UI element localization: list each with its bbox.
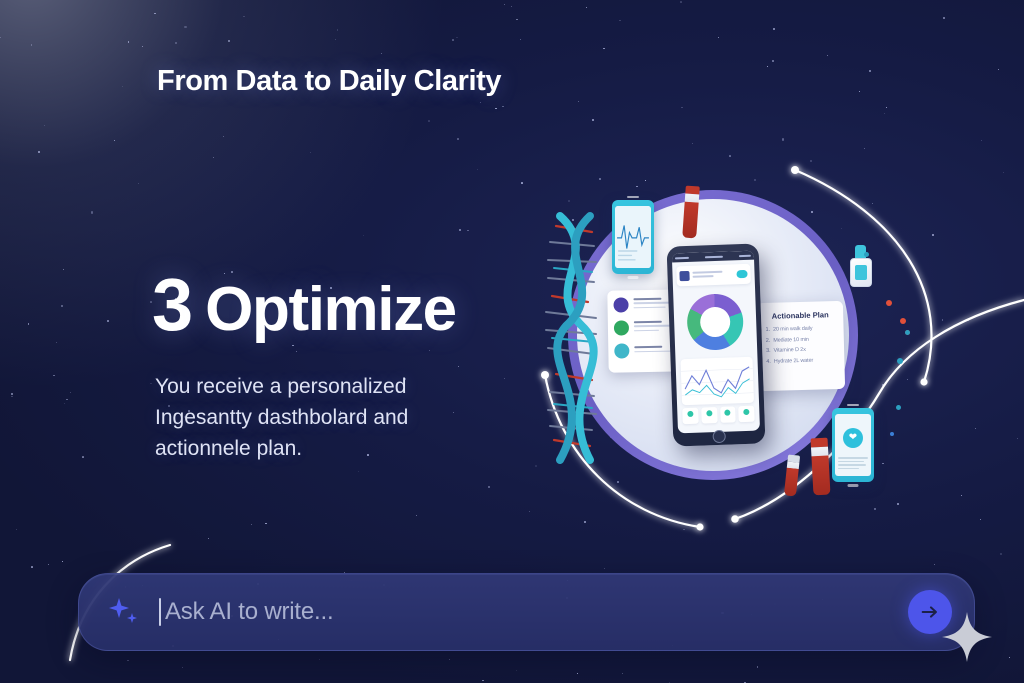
star-dot	[998, 69, 999, 70]
star-dot	[604, 568, 605, 569]
shield-icon	[613, 297, 628, 312]
star-dot	[692, 143, 693, 144]
star-dot	[16, 529, 17, 530]
star-dot	[504, 4, 505, 5]
plan-item: 2. Mediate 10 min	[766, 336, 836, 344]
leaf-icon	[614, 320, 629, 335]
star-dot	[458, 366, 459, 367]
star-dot	[482, 680, 484, 682]
star-dot	[138, 183, 139, 184]
star-dot	[142, 46, 143, 47]
phone-status-bar	[672, 251, 754, 263]
stat-chip	[701, 407, 717, 424]
prompt-input[interactable]	[165, 598, 908, 626]
star-dot	[63, 269, 64, 270]
star-dot	[459, 229, 461, 231]
accent-dot	[864, 252, 869, 257]
step-number: 3	[152, 268, 191, 342]
accent-dot	[886, 300, 892, 306]
star-dot	[251, 524, 252, 525]
accent-dot	[896, 405, 901, 410]
star-dot	[943, 17, 944, 18]
star-dot	[428, 120, 430, 122]
star-dot	[182, 667, 183, 668]
star-dot	[335, 39, 336, 40]
sparkle-decoration-icon	[938, 608, 996, 666]
star-dot	[243, 16, 245, 18]
star-dot	[718, 37, 719, 38]
heart-phone-icon: ❤	[832, 408, 874, 482]
inhaler-icon	[850, 245, 872, 287]
star-dot	[175, 42, 177, 44]
hero-stage: From Data to Daily Clarity 3 Optimize Yo…	[0, 0, 1024, 683]
star-dot	[1003, 172, 1004, 173]
report-icon	[679, 271, 689, 281]
sparkle-icon	[107, 597, 141, 627]
star-dot	[767, 66, 768, 67]
star-dot	[622, 673, 623, 674]
star-dot	[981, 140, 982, 141]
dna-helix-icon	[530, 208, 620, 468]
star-dot	[91, 211, 93, 213]
star-dot	[31, 44, 32, 45]
star-dot	[1000, 553, 1002, 555]
star-dot	[53, 375, 55, 377]
accent-dot	[905, 330, 910, 335]
star-dot	[61, 305, 63, 307]
star-dot	[980, 519, 981, 520]
star-dot	[961, 495, 962, 496]
donut-chart	[673, 287, 757, 358]
star-dot	[64, 403, 65, 404]
star-dot	[265, 523, 266, 524]
accent-dot	[890, 432, 894, 436]
star-dot	[467, 230, 468, 231]
star-dot	[1017, 438, 1018, 439]
star-dot	[127, 660, 129, 662]
star-dot	[869, 70, 871, 72]
star-dot	[516, 670, 517, 671]
star-dot	[773, 28, 775, 30]
plan-item: 1. 20 min walk daily	[765, 325, 835, 333]
star-dot	[859, 91, 860, 92]
hero-description: You receive a personalized Ingesantty da…	[155, 372, 485, 465]
star-dot	[28, 323, 30, 325]
star-dot	[11, 396, 12, 397]
star-dot	[577, 673, 578, 674]
star-dot	[208, 538, 209, 539]
status-pill	[736, 270, 747, 278]
phone-home-button	[712, 430, 725, 443]
star-dot	[337, 29, 339, 31]
page-eyebrow: From Data to Daily Clarity	[157, 65, 501, 98]
star-dot	[381, 53, 382, 54]
star-dot	[968, 320, 969, 321]
star-dot	[416, 515, 417, 516]
star-dot	[502, 106, 503, 107]
star-dot	[592, 119, 594, 121]
star-dot	[681, 107, 682, 108]
star-dot	[456, 37, 458, 39]
star-dot	[128, 41, 129, 42]
line-chart	[680, 357, 754, 405]
star-dot	[0, 37, 1, 38]
accent-dot	[900, 318, 906, 324]
star-dot	[223, 136, 224, 137]
star-dot	[586, 7, 587, 8]
star-dot	[62, 561, 63, 562]
actionable-plan-card: Actionable Plan 1. 20 min walk daily 2. …	[757, 301, 845, 391]
plan-item: 4. Hydrate 2L water	[766, 357, 836, 365]
star-dot	[864, 148, 865, 149]
accent-dot	[897, 358, 903, 364]
smartphone-dashboard	[667, 243, 766, 446]
star-dot	[11, 393, 13, 395]
star-dot	[296, 351, 297, 352]
text-cursor	[159, 598, 161, 626]
star-dot	[213, 157, 214, 158]
stat-chip	[738, 406, 754, 423]
star-dot	[516, 19, 517, 20]
plan-title: Actionable Plan	[765, 310, 835, 321]
star-dot	[457, 138, 459, 140]
star-dot	[48, 564, 49, 565]
star-dot	[886, 107, 887, 108]
heart-icon: ❤	[843, 428, 863, 448]
star-dot	[228, 40, 229, 41]
star-dot	[319, 659, 320, 660]
star-dot	[44, 125, 45, 126]
star-dot	[452, 39, 454, 41]
plan-item: 3. Vitamine D 2x	[766, 346, 836, 354]
star-dot	[603, 48, 605, 50]
star-dot	[292, 345, 293, 346]
star-dot	[150, 383, 152, 385]
star-dot	[520, 39, 521, 40]
star-dot	[884, 113, 885, 114]
star-dot	[772, 60, 774, 62]
stat-chip	[720, 406, 736, 423]
star-dot	[107, 320, 109, 322]
star-dot	[504, 378, 505, 379]
ai-prompt-bar[interactable]	[78, 573, 975, 651]
star-dot	[31, 566, 33, 568]
star-dot	[114, 140, 115, 141]
star-dot	[66, 399, 68, 401]
star-dot	[310, 152, 311, 153]
star-dot	[619, 20, 621, 22]
stat-chip	[682, 408, 698, 425]
star-dot	[782, 138, 784, 140]
star-dot	[38, 151, 40, 153]
star-dot	[477, 169, 479, 171]
phone-stat-chips	[682, 406, 755, 425]
star-dot	[975, 428, 976, 429]
star-dot	[70, 392, 72, 394]
star-dot	[680, 1, 682, 3]
star-dot	[578, 101, 579, 102]
star-dot	[82, 456, 84, 458]
star-dot	[495, 108, 497, 110]
health-data-illustration: Actionable Plan 1. 20 min walk daily 2. …	[520, 150, 940, 550]
page-title: 3 Optimize	[152, 268, 456, 342]
star-dot	[154, 13, 155, 14]
blood-vial-icon	[811, 438, 831, 496]
step-title: Optimize	[205, 279, 456, 341]
star-dot	[1009, 657, 1010, 658]
star-dot	[363, 235, 364, 236]
star-dot	[934, 564, 935, 565]
star-dot	[480, 102, 481, 103]
star-dot	[358, 471, 359, 472]
star-dot	[942, 319, 943, 320]
star-dot	[511, 6, 512, 7]
star-dot	[757, 666, 759, 668]
star-dot	[122, 86, 123, 87]
star-dot	[449, 659, 450, 660]
star-dot	[184, 26, 186, 28]
star-dot	[56, 342, 57, 343]
droplet-icon	[614, 343, 629, 358]
phone-summary-card	[676, 264, 751, 287]
star-dot	[827, 55, 828, 56]
star-dot	[429, 350, 430, 351]
ecg-phone-icon	[612, 200, 654, 274]
star-dot	[488, 486, 489, 487]
